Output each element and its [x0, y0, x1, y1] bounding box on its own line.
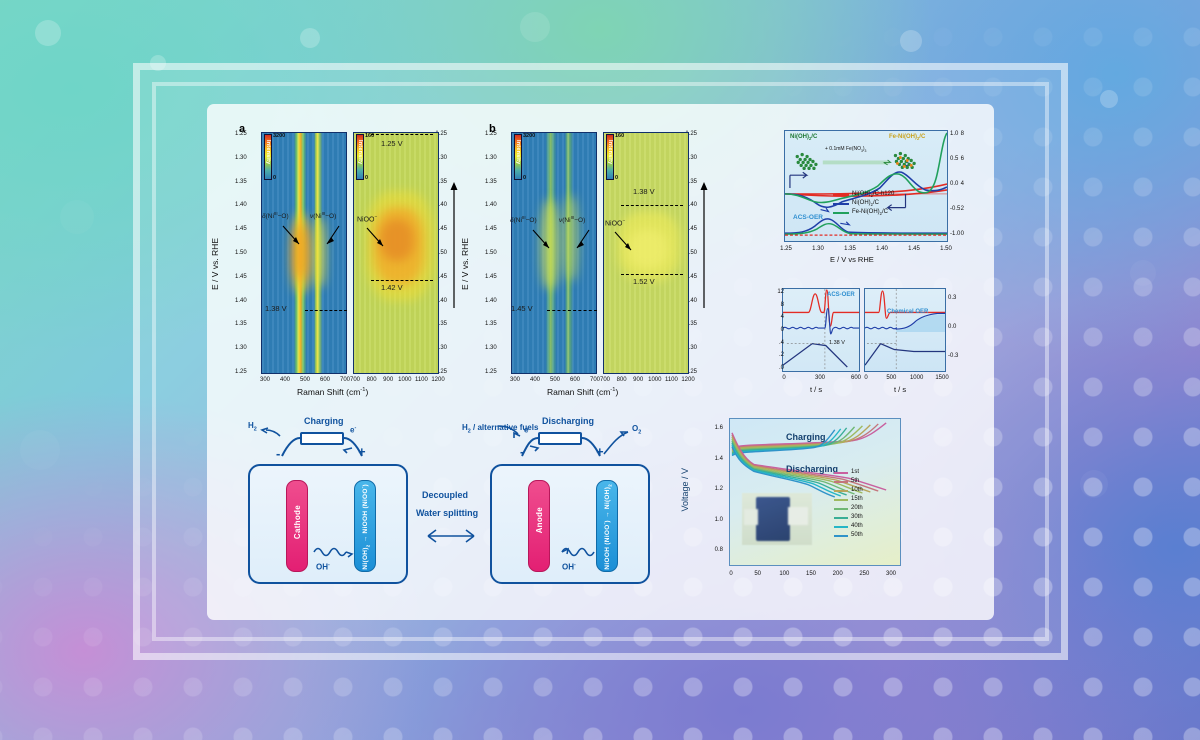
- discharging-cell-body: Anode NiOOH (NiOO-) → Ni(OH)2 OH-: [490, 464, 650, 584]
- charging-cathode-label: Cathode: [293, 505, 302, 539]
- panel-a-y-tick: 1.40: [235, 298, 247, 304]
- cd-x-tick: 250: [857, 571, 871, 577]
- panel-a-y-tick: 1.25: [235, 131, 247, 137]
- discharging-hydroxide-label: OH-: [562, 562, 576, 572]
- lsv-inset-arrow-label: + 0.1mM Fe(NO3)3: [825, 147, 866, 153]
- lsv-x-tick: 1.30: [811, 246, 825, 252]
- panel-b-mode-arrows: [511, 222, 607, 256]
- panel-a-colorbar-left-label: Intensity: [265, 140, 271, 164]
- panel-b-y-tick: 1.40: [485, 298, 497, 304]
- bokeh-circle: [1100, 90, 1118, 108]
- panel-b-x-tick: 500: [548, 377, 562, 383]
- lsv-legend-label-1: Ni(OH)2/C: [852, 200, 879, 207]
- bokeh-circle: [60, 200, 94, 234]
- panel-a-y-tick: 1.35: [235, 179, 247, 185]
- panel-b-x-tick: 300: [508, 377, 522, 383]
- panel-b-sweep-direction-arrow: [699, 180, 711, 310]
- bokeh-circle: [35, 20, 61, 46]
- panel-b-onset-right-top-value: 1.38 V: [633, 188, 655, 196]
- cd-plot-area: Charging Discharging 1st5th10th15th20th3…: [729, 418, 901, 566]
- panel-a-y-tick: 1.50: [235, 250, 247, 256]
- panel-a-onset-line-right-top: [371, 134, 433, 135]
- bidirectional-arrow: [418, 526, 484, 546]
- charging-cell-body: Cathode Ni(OH)2 → NiOOH (NiOO-) OH-: [248, 464, 408, 584]
- cd-legend-swatch: [834, 535, 848, 537]
- panel-a-colorbar-right-label: Intensity: [357, 140, 363, 164]
- discharging-o2-label: O2: [632, 424, 641, 436]
- panel-a-onset-right-bottom-value: 1.42 V: [381, 284, 403, 292]
- chrono-y-tick-right: -0.3: [948, 353, 958, 359]
- charging-mode-label: Charging: [304, 416, 344, 426]
- discharging-anode-electrode: Anode: [528, 480, 550, 572]
- panel-a-y-axis-title: E / V vs. RHE: [211, 238, 220, 290]
- discharging-electron-label: e-: [524, 425, 530, 435]
- panel-b-y-tick: 1.45: [485, 226, 497, 232]
- chrono-right-plot-area: Chemical OER: [864, 288, 946, 372]
- cd-x-tick: 150: [804, 571, 818, 577]
- decoupled-label-line2: Water splitting: [416, 508, 478, 518]
- lsv-legend-swatch-0: [833, 194, 849, 196]
- panel-a-y-tick: 1.45: [235, 274, 247, 280]
- lsv-x-tick: 1.50: [939, 246, 953, 252]
- chrono-right-curves: [865, 289, 945, 371]
- panel-b-x-tick: 600: [568, 377, 582, 383]
- lsv-y-tick-right: -0.5: [950, 206, 960, 212]
- lsv-y-tick-left: 2: [961, 206, 964, 212]
- panel-b-x-tick: 700: [598, 377, 612, 383]
- lsv-legend-swatch-1: [833, 203, 849, 205]
- chrono-x-tick-right: 0: [859, 375, 873, 381]
- charging-hydroxide-label: OH-: [316, 562, 330, 572]
- cd-charging-annotation: Charging: [786, 433, 826, 442]
- panel-a-x-tick: 900: [381, 377, 395, 383]
- panel-b-x-tick: 800: [615, 377, 629, 383]
- lsv-y-tick-right: 1.0: [950, 131, 958, 137]
- bokeh-circle: [900, 30, 922, 52]
- panel-a: a E / V vs. RHE 1.251.301.351.401.451.50…: [235, 120, 465, 400]
- panel-a-onset-line-left: [305, 310, 347, 311]
- discharging-positive-terminal: +: [596, 444, 604, 459]
- panel-b-nioo-label: NiOO−: [605, 220, 625, 227]
- cd-legend-label: 40th: [851, 523, 863, 529]
- panel-b-y-tick: 1.25: [485, 369, 497, 375]
- chrono-x-tick-left: 0: [777, 375, 791, 381]
- panel-b-colorbar-left-label: Intensity: [515, 140, 521, 164]
- panel-a-x-tick: 400: [278, 377, 292, 383]
- panel-b-onset-right-bottom-value: 1.52 V: [633, 278, 655, 286]
- lsv-plot-area: Ni(OH)2/C + 0.1mM Fe(NO3)3 Fe-Ni(OH)2/C …: [784, 130, 948, 242]
- charge-discharge-chart: Voltage / V: [685, 410, 985, 610]
- panel-b-y-tick: 1.30: [485, 345, 497, 351]
- panel-a-x-axis-title: Raman Shift (cm-1): [297, 388, 368, 397]
- cd-legend-swatch: [834, 499, 848, 501]
- lsv-x-tick: 1.40: [875, 246, 889, 252]
- cd-y-tick: 0.8: [715, 547, 723, 553]
- panel-a-y-tick: 1.35: [235, 321, 247, 327]
- panel-b-y-tick: 1.25: [485, 131, 497, 137]
- panel-b-colorbar-right-label: Intensity: [607, 140, 613, 164]
- lsv-x-tick: 1.35: [843, 246, 857, 252]
- cd-legend-swatch: [834, 481, 848, 483]
- bokeh-circle: [520, 12, 550, 42]
- cd-discharging-annotation: Discharging: [786, 465, 838, 474]
- cd-x-tick: 200: [831, 571, 845, 577]
- lsv-x-axis-title: E / V vs RHE: [830, 256, 874, 264]
- panel-b-y-tick: 1.30: [485, 155, 497, 161]
- panel-a-colorbar-right-min: 0: [365, 175, 368, 181]
- charging-h2-label: H2: [248, 421, 257, 433]
- chrono-y-tick-left: .4: [779, 340, 784, 346]
- lsv-inset-left-label: Ni(OH)2/C: [790, 134, 817, 141]
- lsv-acs-oer-annotation: ACS-OER: [793, 215, 823, 222]
- lsv-y-tick-left: 4: [961, 181, 964, 187]
- lsv-legend-label-2: Fe-Ni(OH)2/C: [852, 209, 888, 216]
- chrono-y-tick-left: 4: [781, 314, 784, 320]
- lsv-legend-swatch-2: [833, 212, 849, 214]
- panel-b-y-tick: 1.50: [485, 250, 497, 256]
- cd-legend-swatch: [834, 472, 848, 474]
- charging-ni-electrode: Ni(OH)2 → NiOOH (NiOO-): [354, 480, 376, 572]
- panel-a-onset-right-top-value: 1.25 V: [381, 140, 403, 148]
- panel-a-mode-arrows: [261, 218, 357, 252]
- cd-legend-swatch: [834, 517, 848, 519]
- lsv-inset-right-label: Fe-Ni(OH)2/C: [889, 134, 925, 141]
- lsv-y-tick-left: 8: [961, 131, 964, 137]
- panel-a-nioo-arrow: [355, 224, 415, 254]
- chrono-y-tick-right: 0.3: [948, 295, 956, 301]
- lsv-legend-label-0: Ni(OH)2/C-h120: [852, 191, 894, 198]
- cd-x-tick: 100: [777, 571, 791, 577]
- panel-a-x-tick: 1200: [431, 377, 445, 383]
- chrono-left-plot-area: ACS-OER 1.38 V: [782, 288, 860, 372]
- discharging-mode-label: Discharging: [542, 416, 594, 426]
- panel-a-x-tick: 300: [258, 377, 272, 383]
- lsv-y-tick-left: 6: [961, 156, 964, 162]
- chrono-y-tick-left: 0: [781, 327, 784, 333]
- lsv-x-tick: 1.45: [907, 246, 921, 252]
- chronoamperometry-chart: ACS-OER 1.38 V Chemical OER 12840.4.2.0 …: [752, 282, 980, 402]
- panel-b-y-tick: 1.35: [485, 179, 497, 185]
- panel-a-y-tick: 1.40: [235, 202, 247, 208]
- panel-b-onset-left-value: 1.45 V: [511, 305, 533, 313]
- bokeh-circle: [1080, 470, 1108, 498]
- discharging-ni-electrode-label: NiOOH (NiOO-) → Ni(OH)2: [602, 484, 612, 570]
- cd-y-tick: 1.4: [715, 456, 723, 462]
- chrono-y-tick-left: .2: [779, 352, 784, 358]
- panel-a-x-tick: 1100: [414, 377, 428, 383]
- panel-a-x-tick: 1000: [398, 377, 412, 383]
- panel-a-nioo-label: NiOO−: [357, 216, 377, 223]
- panel-b: b E / V vs. RHE 1.251.301.351.401.451.50…: [485, 120, 715, 400]
- cd-legend-label: 50th: [851, 532, 863, 538]
- chrono-x-tick-right: 500: [884, 375, 898, 381]
- panel-b-colorbar-right-max: 160: [615, 133, 624, 139]
- panel-a-x-tick: 700: [348, 377, 362, 383]
- chrono-x-tick-left: 300: [813, 375, 827, 381]
- panel-b-x-tick: 1200: [681, 377, 695, 383]
- panel-a-y-tick: 1.45: [235, 226, 247, 232]
- chrono-left-curves: [783, 289, 859, 371]
- panel-a-y-tick: 1.25: [235, 369, 247, 375]
- panel-b-onset-line-left: [547, 310, 597, 311]
- panel-b-y-tick: 1.45: [485, 274, 497, 280]
- panel-a-onset-line-right-bottom: [371, 280, 433, 281]
- chrono-x-axis-title-left: t / s: [810, 386, 822, 394]
- figure-card: a E / V vs. RHE 1.251.301.351.401.451.50…: [207, 104, 994, 620]
- panel-a-colorbar-left-max: 3200: [273, 133, 285, 139]
- chrono-x-axis-title-right: t / s: [894, 386, 906, 394]
- cd-y-tick: 1.0: [715, 517, 723, 523]
- panel-a-y-tick: 1.30: [235, 345, 247, 351]
- bokeh-circle: [300, 28, 320, 48]
- panel-b-y-axis-title: E / V vs. RHE: [461, 238, 470, 290]
- chrono-chemical-oer-annotation: Chemical OER: [887, 309, 928, 315]
- lsv-cv-chart: Ni(OH)2/C + 0.1mM Fe(NO3)3 Fe-Ni(OH)2/C …: [752, 122, 980, 272]
- panel-b-x-axis-title: Raman Shift (cm-1): [547, 388, 618, 397]
- device-schematic: Charging H2 e- - + Cathode: [232, 412, 692, 612]
- discharging-anode-label: Anode: [535, 507, 544, 533]
- cd-y-tick: 1.2: [715, 486, 723, 492]
- cd-legend-label: 30th: [851, 514, 863, 520]
- panel-b-colorbar-left-min: 0: [523, 175, 526, 181]
- charging-negative-terminal: -: [276, 446, 280, 461]
- panel-a-onset-left-value: 1.38 V: [265, 305, 287, 313]
- cd-legend-label: 20th: [851, 505, 863, 511]
- panel-b-x-tick: 900: [631, 377, 645, 383]
- cd-legend-label: 15th: [851, 496, 863, 502]
- cd-x-tick: 300: [884, 571, 898, 577]
- panel-b-y-tick: 1.35: [485, 321, 497, 327]
- cd-legend-label: 5th: [851, 478, 859, 484]
- panel-b-y-tick: 1.40: [485, 202, 497, 208]
- chrono-x-tick-right: 1000: [910, 375, 924, 381]
- cd-legend-swatch: [834, 490, 848, 492]
- panel-b-colorbar-left-max: 3200: [523, 133, 535, 139]
- cd-legend-label: 1st: [851, 469, 859, 475]
- discharging-ni-electrode: NiOOH (NiOO-) → Ni(OH)2: [596, 480, 618, 572]
- panel-a-x-tick: 600: [318, 377, 332, 383]
- charging-electron-label: e-: [350, 425, 356, 435]
- charging-cathode-electrode: Cathode: [286, 480, 308, 572]
- cd-legend-label: 10th: [851, 487, 863, 493]
- lsv-y-tick-right: -1.0: [950, 231, 960, 237]
- panel-a-x-tick: 800: [365, 377, 379, 383]
- panel-b-onset-line-right-top: [621, 205, 683, 206]
- background-canvas: a E / V vs. RHE 1.251.301.351.401.451.50…: [0, 0, 1200, 740]
- lsv-y-tick-right: 0.5: [950, 156, 958, 162]
- panel-a-colorbar-left-min: 0: [273, 175, 276, 181]
- cd-y-axis-title: Voltage / V: [681, 468, 690, 512]
- cd-y-tick: 1.6: [715, 425, 723, 431]
- panel-b-onset-line-right-bottom: [621, 274, 683, 275]
- panel-b-colorbar-right-min: 0: [615, 175, 618, 181]
- bokeh-circle: [20, 430, 60, 470]
- chrono-y-tick-right: 0.0: [948, 324, 956, 330]
- chrono-potential-annotation: 1.38 V: [829, 341, 845, 347]
- lsv-y-tick-left: 0: [961, 231, 964, 237]
- chrono-y-tick-left: 12: [777, 289, 784, 295]
- bokeh-circle: [1130, 260, 1156, 286]
- lsv-y-tick-right: 0.0: [950, 181, 958, 187]
- panel-a-heatmap-low-wavenumber: [261, 132, 347, 374]
- chrono-x-tick-right: 1500: [935, 375, 949, 381]
- panel-b-x-tick: 1100: [664, 377, 678, 383]
- chrono-y-tick-left: 8: [781, 302, 784, 308]
- lsv-x-tick: 1.25: [779, 246, 793, 252]
- charging-ni-electrode-label: Ni(OH)2 → NiOOH (NiOO-): [360, 484, 370, 570]
- chrono-acs-oer-annotation: ACS-OER: [827, 292, 855, 298]
- charging-positive-terminal: +: [358, 444, 366, 459]
- discharging-negative-terminal: -: [520, 444, 524, 459]
- cd-legend-swatch: [834, 526, 848, 528]
- panel-b-x-tick: 400: [528, 377, 542, 383]
- panel-a-x-tick: 500: [298, 377, 312, 383]
- cd-x-tick: 0: [724, 571, 738, 577]
- chrono-y-tick-left: .0: [779, 365, 784, 371]
- cd-x-tick: 50: [751, 571, 765, 577]
- panel-b-x-tick: 1000: [648, 377, 662, 383]
- panel-a-y-tick: 1.30: [235, 155, 247, 161]
- panel-b-nioo-arrow: [603, 228, 663, 258]
- decoupled-label-line1: Decoupled: [422, 490, 468, 500]
- cd-legend-swatch: [834, 508, 848, 510]
